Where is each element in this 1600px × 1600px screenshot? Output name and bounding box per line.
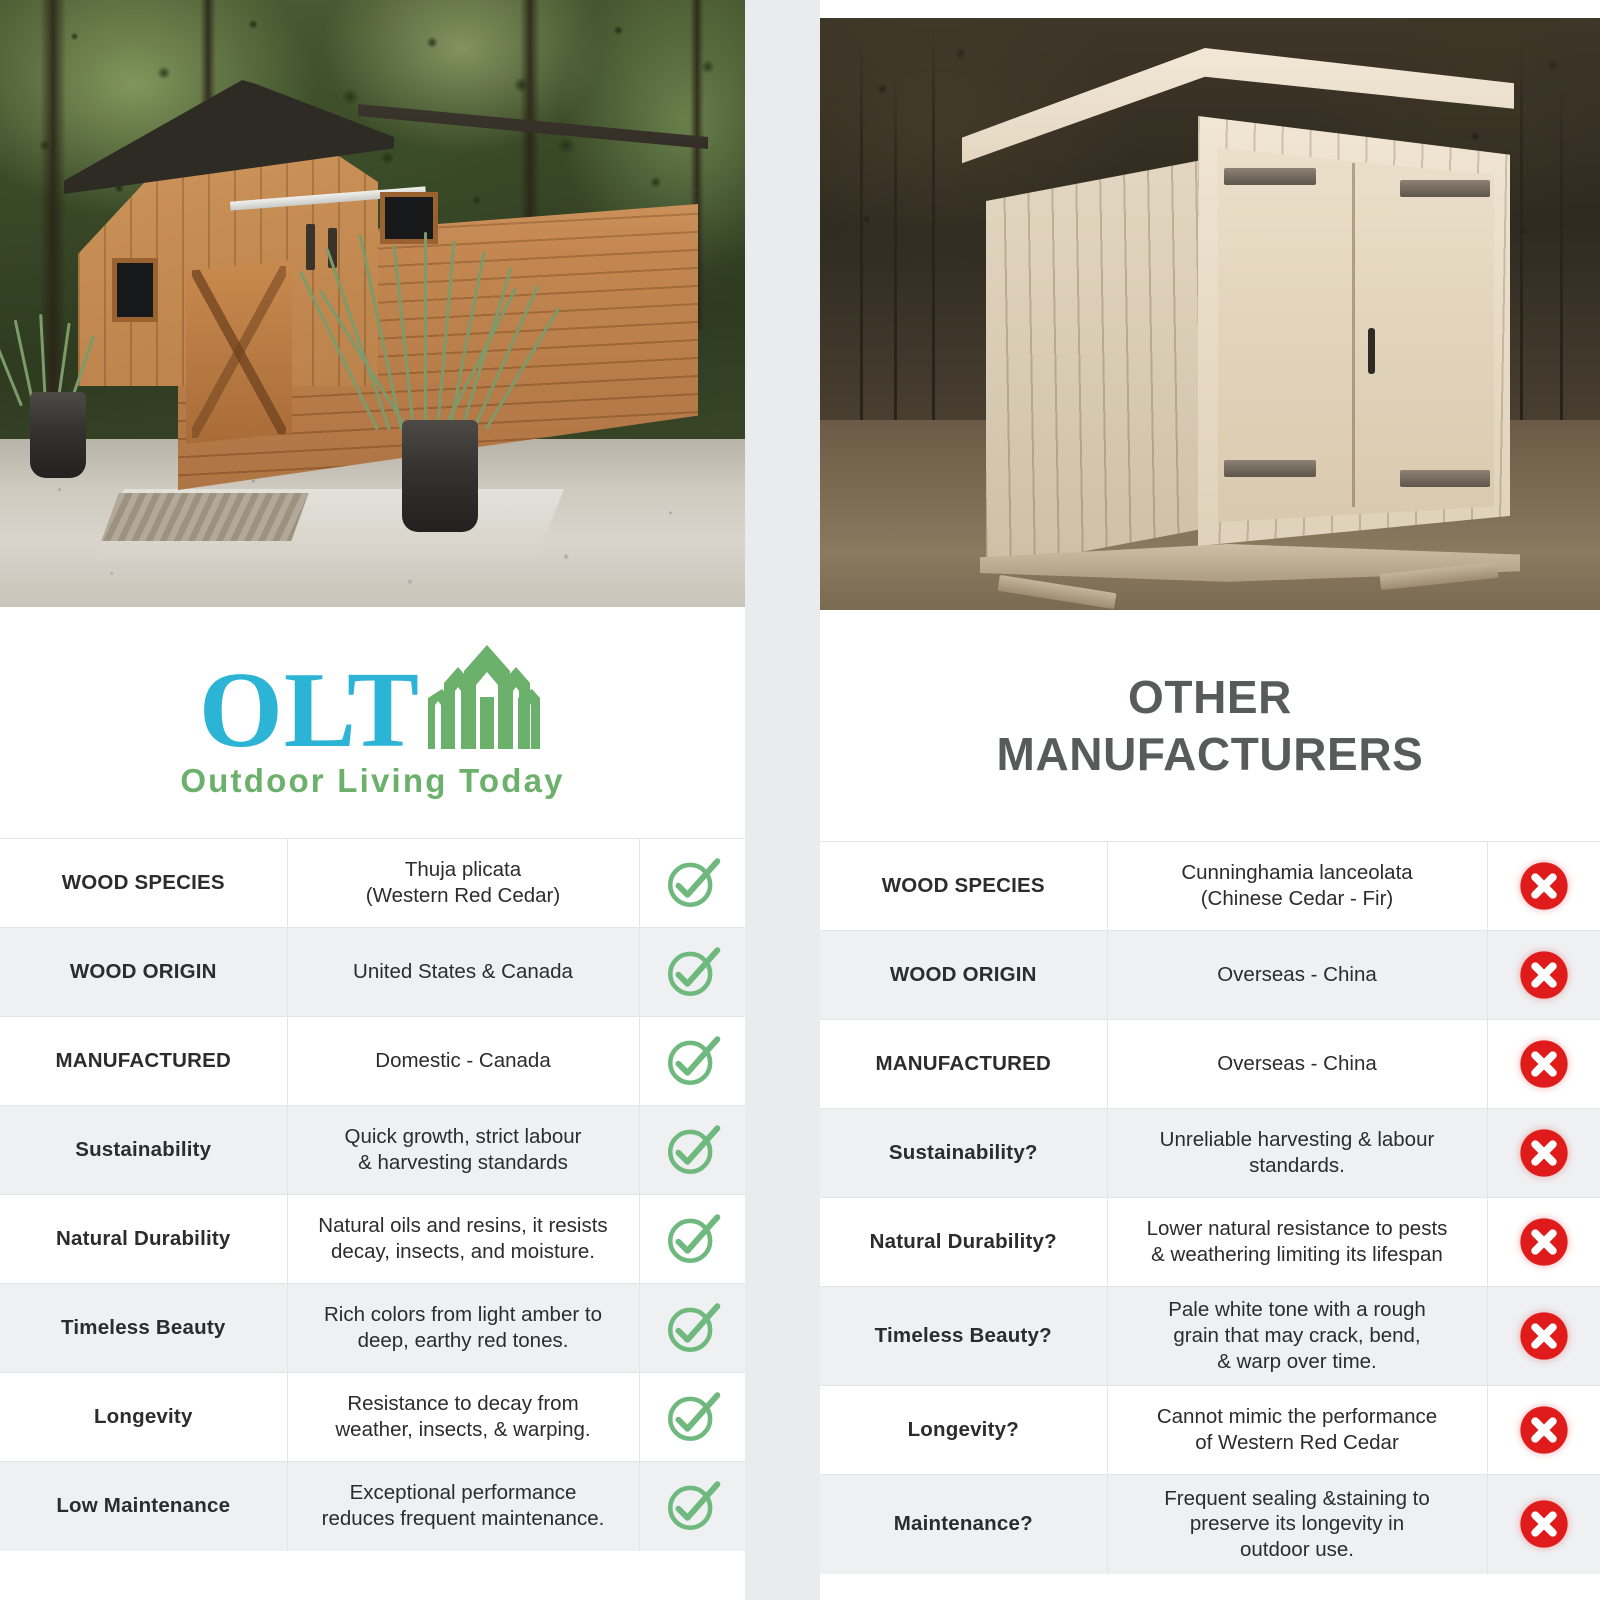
row-label-right_panel-2: MANUFACTURED [820, 1020, 1107, 1109]
row-value-left_panel-5: Rich colors from light amber todeep, ear… [287, 1284, 639, 1373]
x-circle-icon [1496, 1402, 1593, 1458]
barn-door-handle [306, 224, 315, 270]
row-value-right_panel-0: Cunninghamia lanceolata(Chinese Cedar - … [1107, 842, 1487, 931]
row-label-left_panel-3: Sustainability [0, 1106, 287, 1195]
table-row: WOOD SPECIESCunninghamia lanceolata(Chin… [820, 842, 1600, 931]
check-circle-icon [648, 1299, 738, 1357]
table-row: Maintenance?Frequent sealing &staining t… [820, 1475, 1600, 1574]
row-label-right_panel-0: WOOD SPECIES [820, 842, 1107, 931]
row-value-left_panel-1: United States & Canada [287, 928, 639, 1017]
row-status-left_panel-3 [639, 1106, 745, 1195]
door-hinge [1224, 460, 1316, 477]
row-label-left_panel-5: Timeless Beauty [0, 1284, 287, 1373]
check-circle-icon [648, 943, 738, 1001]
door-seam [1352, 163, 1355, 506]
row-label-left_panel-1: WOOD ORIGIN [0, 928, 287, 1017]
x-circle-icon [1496, 1496, 1593, 1552]
olt-tagline: Outdoor Living Today [180, 762, 564, 800]
shed-double-doors [1218, 140, 1494, 530]
table-row: SustainabilityQuick growth, strict labou… [0, 1106, 745, 1195]
row-label-right_panel-6: Longevity? [820, 1386, 1107, 1475]
door-cross-bracing [192, 266, 286, 438]
row-label-left_panel-6: Longevity [0, 1373, 287, 1462]
other-manufacturers-title: OTHERMANUFACTURERS [997, 669, 1424, 781]
table-row: Timeless BeautyRich colors from light am… [0, 1284, 745, 1373]
row-label-right_panel-5: Timeless Beauty? [820, 1287, 1107, 1386]
other-manufacturers-panel: OTHERMANUFACTURERS WOOD SPECIESCunningha… [820, 0, 1600, 1600]
check-circle-icon [648, 1388, 738, 1446]
row-value-right_panel-1: Overseas - China [1107, 931, 1487, 1020]
olt-logo: OLT [180, 645, 564, 800]
black-planter-pot [30, 392, 86, 478]
shed-siding-texture [986, 160, 1202, 570]
row-status-right_panel-7 [1487, 1475, 1600, 1574]
shed-side-door [186, 260, 292, 444]
cedar-tree-logo-icon [428, 645, 546, 758]
door-hinge [1224, 168, 1316, 185]
row-status-right_panel-3 [1487, 1109, 1600, 1198]
table-row: MANUFACTUREDDomestic - Canada [0, 1017, 745, 1106]
table-row: Natural DurabilityNatural oils and resin… [0, 1195, 745, 1284]
row-status-left_panel-0 [639, 839, 745, 928]
x-circle-icon [1496, 1125, 1593, 1181]
row-value-left_panel-2: Domestic - Canada [287, 1017, 639, 1106]
row-value-right_panel-4: Lower natural resistance to pests& weath… [1107, 1198, 1487, 1287]
row-status-left_panel-5 [639, 1284, 745, 1373]
row-status-left_panel-7 [639, 1462, 745, 1551]
x-circle-icon [1496, 858, 1593, 914]
olt-brand-block: OLT [0, 607, 745, 838]
row-value-left_panel-4: Natural oils and resins, it resistsdecay… [287, 1195, 639, 1284]
row-status-right_panel-0 [1487, 842, 1600, 931]
door-hinge [1400, 470, 1490, 487]
row-value-right_panel-3: Unreliable harvesting & labourstandards. [1107, 1109, 1487, 1198]
row-label-right_panel-7: Maintenance? [820, 1475, 1107, 1574]
other-shed-photo [820, 18, 1600, 610]
tree-trunk [894, 78, 897, 458]
row-value-right_panel-6: Cannot mimic the performanceof Western R… [1107, 1386, 1487, 1475]
tree-trunk [1520, 48, 1523, 438]
table-row: Sustainability?Unreliable harvesting & l… [820, 1109, 1600, 1198]
ornamental-grass [372, 230, 512, 430]
row-status-left_panel-6 [639, 1373, 745, 1462]
row-label-right_panel-1: WOOD ORIGIN [820, 931, 1107, 1020]
check-circle-icon [648, 1032, 738, 1090]
check-circle-icon [648, 1477, 738, 1535]
row-label-right_panel-3: Sustainability? [820, 1109, 1107, 1198]
row-status-right_panel-5 [1487, 1287, 1600, 1386]
olt-panel: OLT [0, 0, 745, 1600]
wooden-ramp [101, 493, 308, 541]
row-status-right_panel-2 [1487, 1020, 1600, 1109]
other-table-body: WOOD SPECIESCunninghamia lanceolata(Chin… [820, 842, 1600, 1574]
comparison-infographic: OLT [0, 0, 1600, 1600]
olt-wordmark: OLT [199, 661, 420, 760]
table-row: Natural Durability?Lower natural resista… [820, 1198, 1600, 1287]
row-value-left_panel-0: Thuja plicata(Western Red Cedar) [287, 839, 639, 928]
table-row: WOOD ORIGINOverseas - China [820, 931, 1600, 1020]
row-status-right_panel-1 [1487, 931, 1600, 1020]
row-value-left_panel-6: Resistance to decay fromweather, insects… [287, 1373, 639, 1462]
door-handle [1368, 328, 1375, 374]
table-row: Low MaintenanceExceptional performancere… [0, 1462, 745, 1551]
row-label-left_panel-4: Natural Durability [0, 1195, 287, 1284]
tree-trunk [1560, 88, 1563, 428]
check-circle-icon [648, 854, 738, 912]
row-status-left_panel-4 [639, 1195, 745, 1284]
table-row: LongevityResistance to decay fromweather… [0, 1373, 745, 1462]
table-row: WOOD SPECIESThuja plicata(Western Red Ce… [0, 839, 745, 928]
row-label-right_panel-4: Natural Durability? [820, 1198, 1107, 1287]
check-circle-icon [648, 1121, 738, 1179]
table-row: MANUFACTUREDOverseas - China [820, 1020, 1600, 1109]
other-manufacturers-title-block: OTHERMANUFACTURERS [820, 610, 1600, 841]
chinese-fir-shed [950, 44, 1510, 600]
panel-divider [745, 0, 820, 1600]
row-value-right_panel-5: Pale white tone with a roughgrain that m… [1107, 1287, 1487, 1386]
row-label-left_panel-2: MANUFACTURED [0, 1017, 287, 1106]
olt-table-body: WOOD SPECIESThuja plicata(Western Red Ce… [0, 839, 745, 1551]
row-status-left_panel-1 [639, 928, 745, 1017]
x-circle-icon [1496, 1214, 1593, 1270]
door-hinge [1400, 180, 1490, 197]
x-circle-icon [1496, 1308, 1593, 1364]
row-status-right_panel-6 [1487, 1386, 1600, 1475]
tree-trunk [932, 28, 935, 448]
table-row: Longevity?Cannot mimic the performanceof… [820, 1386, 1600, 1475]
other-comparison-table: WOOD SPECIESCunninghamia lanceolata(Chin… [820, 841, 1600, 1574]
row-status-left_panel-2 [639, 1017, 745, 1106]
row-value-left_panel-3: Quick growth, strict labour& harvesting … [287, 1106, 639, 1195]
row-value-right_panel-7: Frequent sealing &staining topreserve it… [1107, 1475, 1487, 1574]
x-circle-icon [1496, 1036, 1593, 1092]
table-row: Timeless Beauty?Pale white tone with a r… [820, 1287, 1600, 1386]
black-planter-pot [402, 420, 478, 532]
table-row: WOOD ORIGINUnited States & Canada [0, 928, 745, 1017]
tree-trunk [860, 38, 863, 468]
row-label-left_panel-0: WOOD SPECIES [0, 839, 287, 928]
row-value-right_panel-2: Overseas - China [1107, 1020, 1487, 1109]
x-circle-icon [1496, 947, 1593, 1003]
shed-window [112, 258, 158, 322]
row-status-right_panel-4 [1487, 1198, 1600, 1287]
olt-comparison-table: WOOD SPECIESThuja plicata(Western Red Ce… [0, 838, 745, 1551]
shed-side-wall [986, 160, 1202, 570]
row-label-left_panel-7: Low Maintenance [0, 1462, 287, 1551]
check-circle-icon [648, 1210, 738, 1268]
olt-shed-photo [0, 0, 745, 607]
row-value-left_panel-7: Exceptional performancereduces frequent … [287, 1462, 639, 1551]
